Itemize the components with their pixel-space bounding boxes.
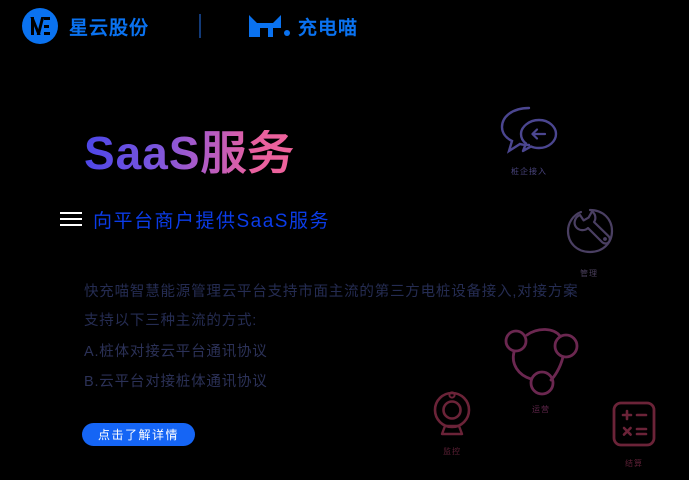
feature-monitoring[interactable]: 监控	[424, 388, 480, 457]
feature-label: 管理	[580, 268, 598, 279]
learn-more-button[interactable]: 点击了解详情	[82, 423, 195, 446]
feature-label: 运营	[532, 404, 550, 415]
feature-label: 监控	[443, 446, 461, 457]
wrench-icon	[560, 206, 618, 265]
feature-label: 桩企接入	[511, 166, 547, 177]
feature-pile-access[interactable]: 桩企接入	[496, 102, 562, 177]
page-subtitle: 向平台商户提供SaaS服务	[93, 206, 330, 233]
hero-section: SaaS服务 向平台商户提供SaaS服务 快充喵智慧能源管理云平台支持市面主流的…	[0, 0, 689, 480]
network-nodes-icon	[500, 322, 582, 401]
chat-bubbles-arrow-icon	[496, 102, 562, 163]
list-item: A.桩体对接云平台通讯协议	[84, 340, 268, 361]
calculator-icon	[606, 398, 662, 455]
subtitle-row: 向平台商户提供SaaS服务	[60, 206, 330, 233]
list-item: B.云平台对接桩体通讯协议	[84, 370, 268, 391]
feature-label: 结算	[625, 458, 643, 469]
page-title: SaaS服务	[84, 130, 295, 176]
hamburger-icon[interactable]	[60, 212, 82, 227]
camera-monitor-icon	[424, 388, 480, 443]
feature-billing[interactable]: 结算	[606, 398, 662, 469]
feature-management[interactable]: 管理	[560, 206, 618, 279]
feature-operations[interactable]: 运营	[500, 322, 582, 415]
